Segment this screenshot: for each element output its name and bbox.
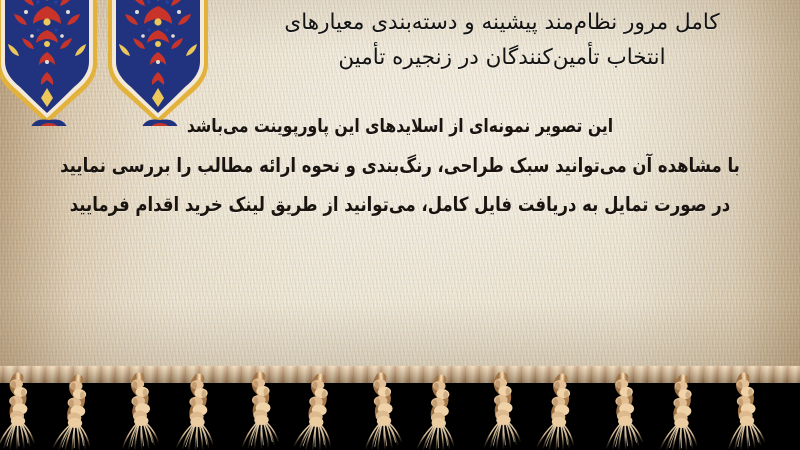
- fringe-tassel: [537, 378, 578, 450]
- fringe-tassel: [119, 377, 159, 450]
- fringe-tassel: [240, 376, 278, 448]
- fringe-tassel: [482, 376, 520, 448]
- slide-title-line-1: کامل مرور نظام‌مند پیشینه و دسته‌بندی مع…: [284, 10, 719, 35]
- fringe-tassel: [0, 378, 34, 449]
- fringe-tassel: [53, 379, 94, 450]
- fringe-tassel: [417, 379, 457, 450]
- fringe-tassel: [294, 377, 336, 450]
- slide-title: کامل مرور نظام‌مند پیشینه و دسته‌بندی مع…: [222, 6, 782, 76]
- carpet-fringe-band: [0, 366, 800, 450]
- body-line-2: با مشاهده آن می‌توانید سبک طراحی، رنگ‌بن…: [37, 146, 763, 186]
- slide-canvas: کامل مرور نظام‌مند پیشینه و دسته‌بندی مع…: [0, 0, 800, 450]
- fringe-tassel: [361, 377, 402, 450]
- slide-title-line-2: انتخاب تأمین‌کنندگان در زنجیره تأمین: [222, 41, 782, 76]
- fringe-tassel-row: [0, 376, 765, 450]
- fringe-tassel: [177, 378, 215, 450]
- body-line-3: در صورت تمایل به دریافت فایل کامل، می‌تو…: [37, 185, 763, 225]
- body-line-1: این تصویر نمونه‌ای از اسلایدهای این پاور…: [37, 108, 763, 146]
- slide-body-text: این تصویر نمونه‌ای از اسلایدهای این پاور…: [37, 108, 763, 225]
- fringe-tassel: [603, 377, 643, 450]
- slide-text-layer: کامل مرور نظام‌مند پیشینه و دسته‌بندی مع…: [0, 0, 800, 378]
- fringe-tassel: [724, 377, 765, 450]
- carpet-fringe-tassels: [0, 366, 800, 450]
- fringe-tassel: [661, 379, 699, 450]
